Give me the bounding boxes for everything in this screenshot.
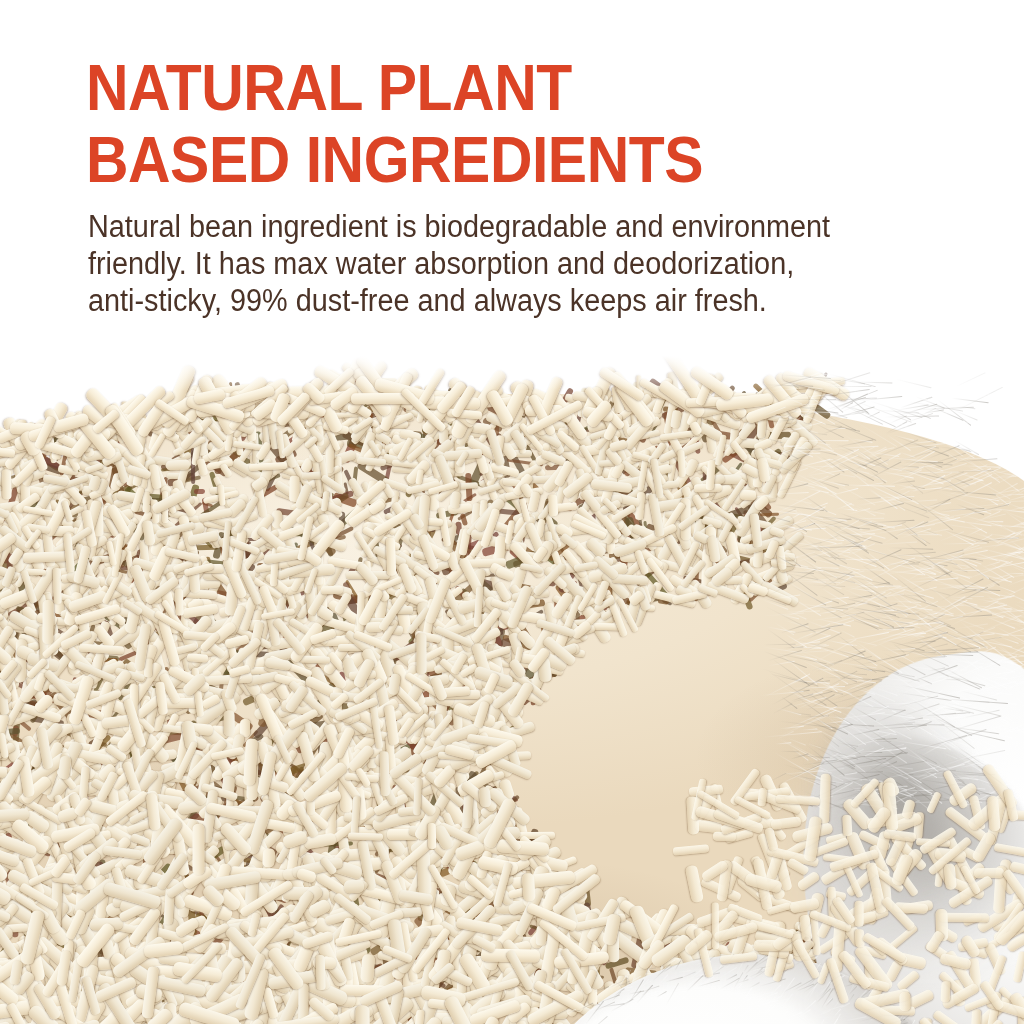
description-line-3: anti-sticky, 99% dust-free and always ke… — [88, 282, 886, 319]
litter-pellet — [740, 490, 756, 500]
litter-pellet — [416, 633, 426, 674]
litter-pellet — [224, 710, 236, 737]
litter-pellet — [53, 568, 62, 604]
litter-pellet — [379, 751, 390, 796]
litter-pellet — [262, 847, 275, 867]
headline-line-1: NATURAL PLANT — [86, 52, 877, 124]
litter-gap-shadow — [194, 489, 205, 494]
product-infographic-page: NATURAL PLANT BASED INGREDIENTS Natural … — [0, 0, 1024, 1024]
litter-pellet — [321, 586, 343, 595]
litter-pellet — [316, 954, 326, 989]
description-paragraph: Natural bean ingredient is biodegradable… — [88, 208, 886, 319]
litter-pellet — [299, 655, 331, 663]
litter-pellet — [166, 459, 190, 470]
copy-block: NATURAL PLANT BASED INGREDIENTS Natural … — [86, 52, 946, 319]
litter-pellet — [187, 653, 209, 663]
description-line-2: friendly. It has max water absorption an… — [88, 245, 886, 282]
description-line-1: Natural bean ingredient is biodegradable… — [88, 208, 886, 245]
litter-pellet — [175, 589, 184, 616]
litter-pellet — [428, 822, 437, 848]
litter-pellet — [23, 551, 68, 562]
headline-line-2: BASED INGREDIENTS — [86, 124, 877, 196]
litter-pellet — [142, 493, 149, 514]
litter-pellet — [677, 450, 686, 477]
litter-pellet — [522, 873, 536, 901]
litter-pellet — [240, 719, 250, 737]
litter-pellet — [548, 494, 558, 517]
litter-pellet — [2, 469, 11, 499]
litter-pellet — [414, 1009, 425, 1024]
litter-pellet — [344, 879, 365, 893]
litter-pellet — [356, 1005, 370, 1024]
product-photo — [0, 356, 1024, 1024]
litter-pellet — [43, 600, 54, 644]
page-title: NATURAL PLANT BASED INGREDIENTS — [86, 52, 877, 196]
litter-gap-shadow — [760, 512, 779, 515]
litter-pellet — [192, 823, 204, 874]
litter-pellet — [816, 917, 830, 956]
litter-pellet — [479, 786, 492, 807]
litter-pellets — [0, 356, 1024, 1024]
